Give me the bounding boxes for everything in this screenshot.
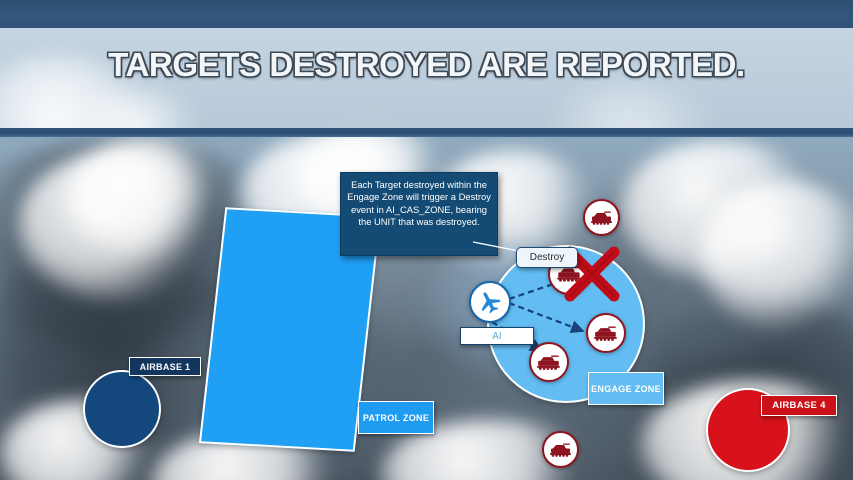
tank-icon-glyph bbox=[593, 325, 619, 342]
airbase-1-circle[interactable] bbox=[83, 370, 161, 448]
fighter-jet-icon-glyph bbox=[477, 289, 504, 316]
fighter-jet-icon[interactable] bbox=[469, 281, 511, 323]
tank-icon-glyph bbox=[549, 442, 573, 458]
airbase-4-label[interactable]: AIRBASE 4 bbox=[761, 395, 837, 416]
tank-icon[interactable] bbox=[542, 431, 579, 468]
tank-icon[interactable] bbox=[583, 199, 620, 236]
tank-icon[interactable] bbox=[529, 342, 569, 382]
engage-zone-label[interactable]: ENGAGE ZONE bbox=[588, 372, 664, 405]
patrol-zone-label[interactable]: PATROL ZONE bbox=[358, 401, 434, 434]
tank-icon-glyph bbox=[536, 354, 562, 371]
ai-unit-label[interactable]: AI bbox=[460, 327, 534, 345]
info-callout-box: Each Target destroyed within the Engage … bbox=[340, 172, 498, 256]
destroy-label[interactable]: Destroy bbox=[516, 247, 578, 268]
title-divider bbox=[0, 128, 853, 137]
tank-icon-glyph bbox=[590, 210, 614, 226]
slide-canvas: TARGETS DESTROYED ARE REPORTED. bbox=[0, 0, 853, 480]
tank-icon[interactable] bbox=[586, 313, 626, 353]
top-ribbon bbox=[0, 0, 853, 28]
airbase-1-label[interactable]: AIRBASE 1 bbox=[129, 357, 201, 376]
page-title: TARGETS DESTROYED ARE REPORTED. bbox=[0, 46, 853, 84]
